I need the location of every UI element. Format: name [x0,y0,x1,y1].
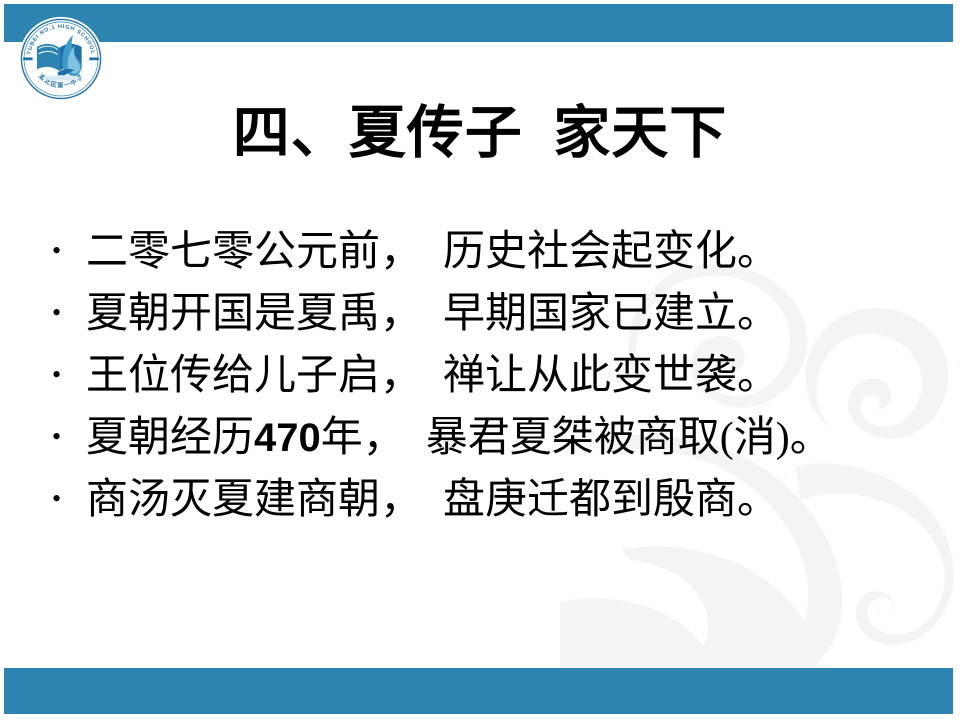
bullet-marker-icon: • [52,362,86,388]
bullet-marker-icon: • [52,486,86,512]
bullet-marker-icon: • [52,238,86,264]
top-decorative-band [4,4,953,42]
list-item-text: 商汤灭夏建商朝， 盘庚迁都到殷商。 [86,476,932,524]
presentation-slide: YUBEI NO.1 HIGH SCHOOL 渝北区第一中学 四、夏传子 家天下… [0,0,960,720]
bullet-marker-icon: • [52,300,86,326]
list-item: • 二零七零公元前， 历史社会起变化。 [52,228,932,290]
list-item: • 商汤灭夏建商朝， 盘庚迁都到殷商。 [52,476,932,538]
bullet-marker-icon: • [52,424,86,450]
list-item-number: 470 [254,416,321,460]
list-item-text-pre: 夏朝经历 [86,415,254,461]
list-item-text: 二零七零公元前， 历史社会起变化。 [86,228,932,276]
school-logo: YUBEI NO.1 HIGH SCHOOL 渝北区第一中学 [18,16,104,102]
list-item: • 夏朝经历470年， 暴君夏桀被商取(消)。 [52,414,932,476]
list-item: • 王位传给儿子启， 禅让从此变世袭。 [52,352,932,414]
list-item-text: 夏朝经历470年， 暴君夏桀被商取(消)。 [86,414,932,462]
list-item-text: 夏朝开国是夏禹， 早期国家已建立。 [86,290,932,338]
list-item-text: 王位传给儿子启， 禅让从此变世袭。 [86,352,932,400]
list-item: • 夏朝开国是夏禹， 早期国家已建立。 [52,290,932,352]
slide-title: 四、夏传子 家天下 [0,104,960,164]
bullet-list: • 二零七零公元前， 历史社会起变化。 • 夏朝开国是夏禹， 早期国家已建立。 … [52,228,932,538]
list-item-text-post: 年， 暴君夏桀被商取(消)。 [321,415,832,461]
bottom-decorative-band [4,668,953,714]
